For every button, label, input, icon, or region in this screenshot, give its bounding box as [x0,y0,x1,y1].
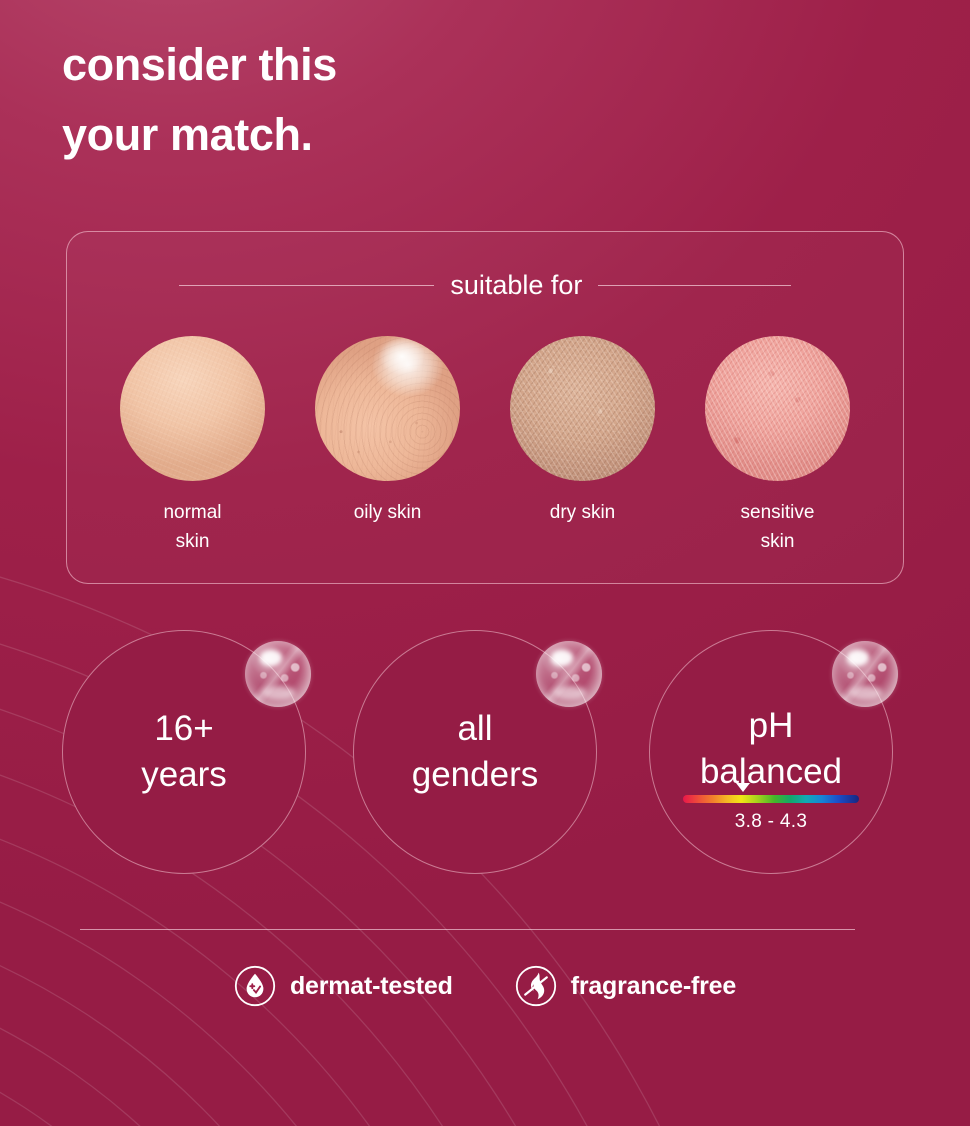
suitable-for-card: suitable for normal skin oily skin dry s… [66,231,904,584]
feature-circle-ph: pH balanced 3.8 - 4.3 [649,630,893,874]
claim-badge-label: fragrance-free [571,974,736,999]
bubble-icon [245,641,311,707]
footer-divider [80,929,855,930]
feature-label: pH balanced [700,703,842,795]
skin-type-label: dry skin [550,499,615,528]
skin-type-label: normal skin [163,499,221,556]
suitable-for-title-row: suitable for [179,272,791,299]
normal-skin-swatch [120,336,265,481]
claim-badge-label: dermat-tested [290,974,453,999]
ph-range-label: 3.8 - 4.3 [683,811,859,833]
feature-label: 16+ years [141,706,227,798]
no-fragrance-icon [515,965,557,1007]
skin-type-list: normal skin oily skin dry skin sensitive… [95,336,875,556]
feature-label: all genders [412,706,538,798]
divider-left [179,285,434,286]
bubble-icon [832,641,898,707]
skin-type-item-sensitive: sensitive skin [680,336,875,556]
claim-badge-list: dermat-tested fragrance-free [0,965,970,1007]
bubble-glint [245,641,311,707]
skin-type-label: oily skin [354,499,422,528]
skin-type-label: sensitive skin [741,499,815,556]
skin-type-item-oily: oily skin [290,336,485,556]
bubble-glint [832,641,898,707]
page-title-line-2: your match. [62,100,622,170]
page-title: consider this your match. [62,30,622,170]
bubble-icon [536,641,602,707]
oily-skin-swatch [315,336,460,481]
claim-badge-dermat-tested: dermat-tested [234,965,453,1007]
suitable-for-title: suitable for [450,272,582,299]
feature-circle-genders: all genders [353,630,597,874]
skin-texture-overlay [705,336,850,481]
feature-circle-list: 16+ years all genders pH balanced 3.8 - … [62,628,908,876]
divider-right [598,285,791,286]
ph-meter: 3.8 - 4.3 [683,795,859,833]
ph-scale-bar [683,795,859,803]
page-title-line-1: consider this [62,30,622,100]
sensitive-skin-swatch [705,336,850,481]
ph-pointer-icon [736,783,750,792]
dry-skin-swatch [510,336,655,481]
droplet-check-icon [234,965,276,1007]
skin-type-item-dry: dry skin [485,336,680,556]
skin-texture-overlay [120,336,265,481]
skin-type-item-normal: normal skin [95,336,290,556]
oil-gloss-highlight [315,336,460,481]
feature-circle-age: 16+ years [62,630,306,874]
claim-badge-fragrance-free: fragrance-free [515,965,736,1007]
skin-texture-overlay [510,336,655,481]
bubble-glint [536,641,602,707]
